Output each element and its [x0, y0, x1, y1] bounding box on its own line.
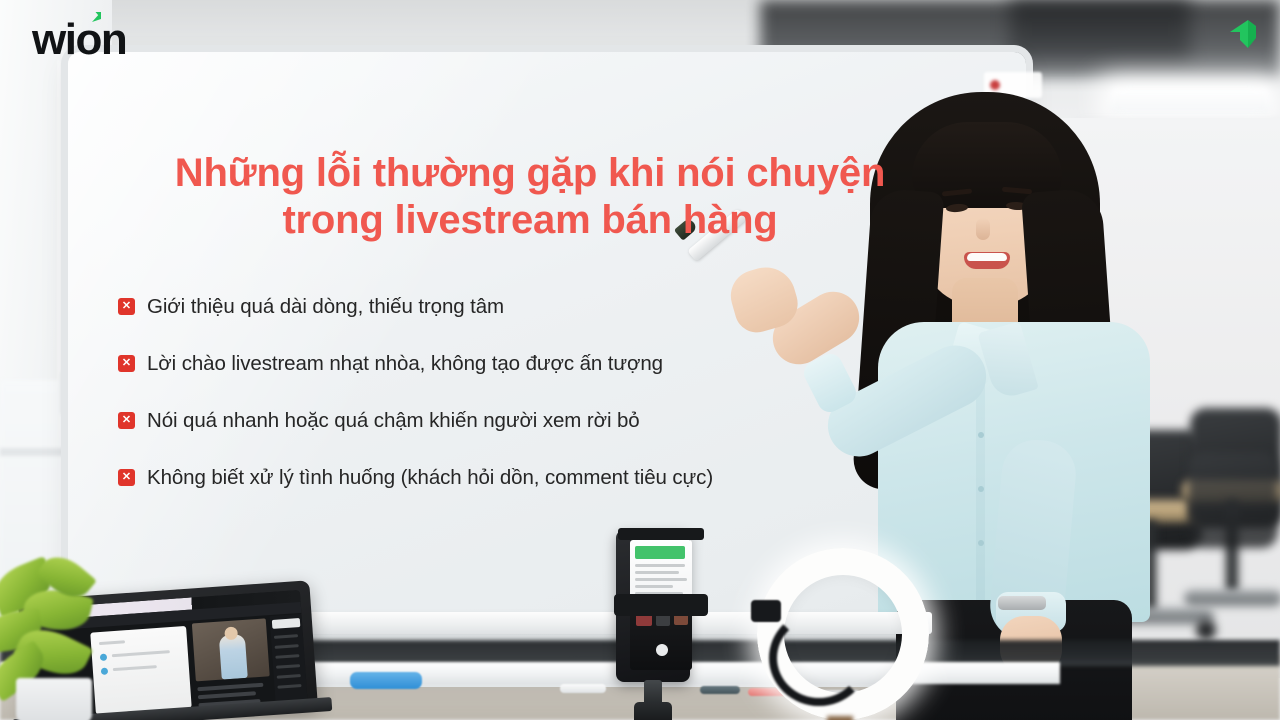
video-player: [192, 618, 270, 681]
slide-bullet-list: ✕ Giới thiệu quá dài dòng, thiếu trọng t…: [118, 294, 858, 522]
shirt-button: [978, 486, 984, 492]
tripod-head: [634, 702, 672, 720]
video-subject: [219, 634, 248, 680]
screen-text-line: [635, 585, 673, 588]
teeth: [967, 253, 1007, 261]
list-item: ✕ Lời chào livestream nhạt nhòa, không t…: [118, 351, 858, 376]
potted-plant: [0, 556, 120, 720]
cross-icon: ✕: [118, 298, 135, 315]
shirt-button: [978, 432, 984, 438]
wion-logo-text: wion: [32, 15, 126, 64]
slide-title: Những lỗi thường gặp khi nói chuyện tron…: [150, 150, 910, 244]
list-item-label: Lời chào livestream nhạt nhòa, không tạo…: [147, 351, 663, 376]
list-item-label: Nói quá nhanh hoặc quá chậm khiến người …: [147, 408, 640, 433]
ring-light-cable: [769, 610, 869, 706]
office-chair-base: [1184, 590, 1280, 606]
cross-icon: ✕: [118, 355, 135, 372]
camera-shutter-button: [656, 644, 668, 656]
screen-text-line: [635, 564, 685, 567]
screen-text-line: [635, 578, 687, 581]
shirt-placket: [976, 380, 985, 620]
office-chair-caster: [1196, 620, 1216, 640]
ring-light: [757, 548, 929, 720]
screen-text-line: [635, 571, 679, 574]
list-item-label: Giới thiệu quá dài dòng, thiếu trọng tâm: [147, 294, 504, 319]
list-item: ✕ Không biết xử lý tình huống (khách hỏi…: [118, 465, 858, 490]
nose: [976, 218, 990, 240]
phone-clamp-bottom: [614, 594, 708, 616]
window-rail: [0, 448, 64, 456]
smartphone-body: [616, 530, 690, 682]
cross-icon: ✕: [118, 412, 135, 429]
wristwatch: [998, 596, 1046, 610]
shirt-button: [978, 540, 984, 546]
wion-logo[interactable]: wion: [32, 18, 126, 62]
whiteboard-eraser: [350, 672, 422, 689]
video-list-row: [198, 691, 256, 699]
list-item-label: Không biết xử lý tình huống (khách hỏi d…: [147, 465, 713, 490]
ring-light-clamp: [751, 600, 781, 622]
panel-line: [112, 650, 170, 657]
list-item: ✕ Giới thiệu quá dài dòng, thiếu trọng t…: [118, 294, 858, 319]
corner-green-arrow-icon: [1228, 18, 1258, 55]
live-banner: [635, 546, 685, 559]
ring-light-stand: [827, 716, 853, 720]
phone-clamp-top: [618, 528, 704, 540]
cross-icon: ✕: [118, 469, 135, 486]
video-list-row: [197, 683, 263, 692]
office-chair-backrest: [1188, 452, 1278, 548]
smartphone-on-tripod: [608, 530, 728, 720]
tray-marker: [560, 684, 606, 693]
list-item: ✕ Nói quá nhanh hoặc quá chậm khiến ngườ…: [118, 408, 858, 433]
mouth-smiling: [964, 252, 1010, 269]
plant-pot: [16, 678, 92, 720]
